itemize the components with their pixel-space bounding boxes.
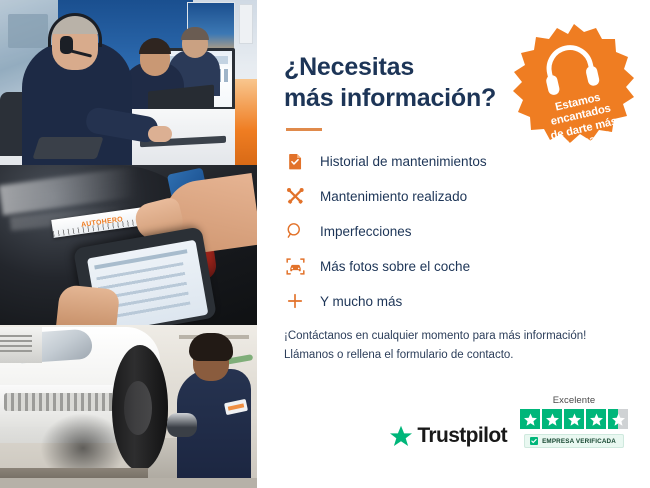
- headline-line-1: ¿Necesitas: [284, 53, 414, 81]
- verified-label: EMPRESA VERIFICADA: [542, 438, 616, 445]
- feature-label: Y mucho más: [320, 294, 402, 309]
- star-half: [608, 409, 628, 429]
- feature-label: Más fotos sobre el coche: [320, 259, 470, 274]
- star-filled: [542, 409, 562, 429]
- tools-cross-icon: [284, 185, 306, 207]
- photo-column: AUTOHERO: [0, 0, 257, 488]
- rating-label: Excelente: [553, 395, 596, 406]
- content-panel: ¿Necesitas más información? Historial de…: [257, 0, 650, 488]
- list-item: Y mucho más: [284, 289, 624, 313]
- technician-wheel-photo: [0, 325, 257, 488]
- status-badge: Estamos encantados de darte más informac…: [510, 22, 638, 150]
- list-item: Imperfecciones: [284, 219, 624, 243]
- document-check-icon: [284, 150, 306, 172]
- plus-icon: [284, 290, 306, 312]
- feature-label: Imperfecciones: [320, 224, 412, 239]
- contact-line-1: ¡Contáctanos en cualquier momento para m…: [284, 330, 586, 342]
- star-filled: [520, 409, 540, 429]
- verified-company-badge: EMPRESA VERIFICADA: [524, 434, 624, 448]
- car-scan-icon: [284, 255, 306, 277]
- check-icon: [530, 437, 538, 445]
- contact-line-2: Llámanos o rellena el formulario de cont…: [284, 349, 514, 361]
- trustpilot-widget[interactable]: Trustpilot Excelente: [389, 395, 628, 448]
- feature-label: Historial de mantenimientos: [320, 154, 487, 169]
- list-item: Historial de mantenimientos: [284, 149, 624, 173]
- feature-list: Historial de mantenimientos M: [284, 149, 624, 313]
- star-filled: [586, 409, 606, 429]
- list-item: Mantenimiento realizado: [284, 184, 624, 208]
- trustpilot-star-icon: [389, 425, 413, 448]
- title-divider: [286, 128, 322, 131]
- list-item: Más fotos sobre el coche: [284, 254, 624, 278]
- trustpilot-logo[interactable]: Trustpilot: [389, 424, 507, 448]
- call-center-agents-photo: [0, 0, 257, 165]
- star-filled: [564, 409, 584, 429]
- starburst-shape: [510, 22, 638, 150]
- rating-stars: [520, 409, 628, 429]
- headline-line-2: más información?: [284, 84, 496, 112]
- trustpilot-rating: Excelente: [520, 395, 628, 448]
- trustpilot-logo-text: Trustpilot: [417, 424, 507, 448]
- contact-text: ¡Contáctanos en cualquier momento para m…: [284, 327, 624, 365]
- car-inspection-ruler-photo: AUTOHERO: [0, 165, 257, 325]
- feature-label: Mantenimiento realizado: [320, 189, 467, 204]
- page-title: ¿Necesitas más información?: [284, 52, 514, 114]
- magnifier-icon: [284, 220, 306, 242]
- promo-banner: AUTOHERO: [0, 0, 650, 488]
